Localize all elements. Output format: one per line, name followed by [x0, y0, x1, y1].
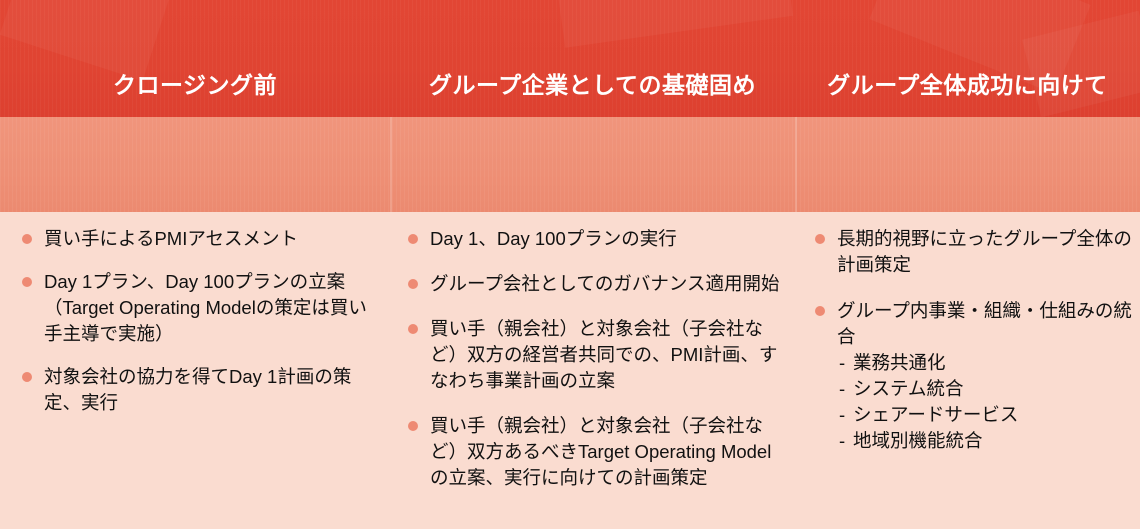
bullet-text: Day 1プラン、Day 100プランの立案（Target Operating … — [44, 271, 367, 344]
dash-marker: - — [839, 402, 853, 428]
phase-title-3: グループ全体成功に向けて — [795, 66, 1140, 100]
phase-header-column-1: クロージング前 — [0, 0, 390, 117]
bullet-subitem: -シェアードサービス — [837, 402, 1132, 428]
bullet-subitem-text: シェアードサービス — [853, 404, 1018, 425]
bullet-item: 対象会社の協力を得てDay 1計画の策定、実行 — [16, 364, 372, 416]
phase-title-1: クロージング前 — [0, 66, 390, 100]
bullet-text: 対象会社の協力を得てDay 1計画の策定、実行 — [44, 366, 351, 413]
bullet-item: グループ会社としてのガバナンス適用開始 — [402, 271, 783, 297]
bullet-text: グループ会社としてのガバナンス適用開始 — [430, 273, 779, 294]
stage-header-column-1: 買い手による計画立案 — [0, 117, 390, 212]
phase-title-2: グループ企業としての基礎固め — [390, 66, 795, 100]
bullet-text: Day 1、Day 100プランの実行 — [430, 228, 677, 249]
dash-marker: - — [839, 350, 853, 376]
dash-marker: - — [839, 428, 853, 454]
bullet-item: Day 1プラン、Day 100プランの立案（Target Operating … — [16, 269, 372, 347]
stage-header-column-2: 両社経営者によるPMI計画策定 — [390, 117, 795, 212]
bullet-subitem: -システム統合 — [837, 376, 1132, 402]
stage-header-columns: 買い手による計画立案 両社経営者によるPMI計画策定 グループ内シナジー追求 — [0, 117, 1140, 212]
bullet-item: 長期的視野に立ったグループ全体の計画策定 — [809, 226, 1132, 278]
stage-header-band: 買い手による計画立案 両社経営者によるPMI計画策定 グループ内シナジー追求 — [0, 117, 1140, 212]
bullet-subitem-text: 地域別機能統合 — [853, 430, 983, 451]
bullet-subitem: -業務共通化 — [837, 350, 1132, 376]
phase-header-column-2: グループ企業としての基礎固め — [390, 0, 795, 117]
bullet-text: 買い手（親会社）と対象会社（子会社など）双方あるべきTarget Operati… — [430, 415, 771, 488]
content-columns: 買い手によるPMIアセスメントDay 1プラン、Day 100プランの立案（Ta… — [0, 212, 1140, 529]
content-band: 買い手によるPMIアセスメントDay 1プラン、Day 100プランの立案（Ta… — [0, 212, 1140, 529]
content-column-3: 長期的視野に立ったグループ全体の計画策定グループ内事業・組織・仕組みの統合-業務… — [795, 212, 1140, 529]
bullet-list-3: 長期的視野に立ったグループ全体の計画策定グループ内事業・組織・仕組みの統合-業務… — [795, 226, 1140, 454]
phase-header-band: クロージング前 グループ企業としての基礎固め グループ全体成功に向けて — [0, 0, 1140, 117]
bullet-text: 買い手によるPMIアセスメント — [44, 228, 298, 249]
dash-marker: - — [839, 376, 853, 402]
bullet-subitem: -地域別機能統合 — [837, 428, 1132, 454]
phase-header-column-3: グループ全体成功に向けて — [795, 0, 1140, 117]
bullet-subitem-list: -業務共通化-システム統合-シェアードサービス-地域別機能統合 — [837, 350, 1132, 454]
bullet-subitem-text: システム統合 — [853, 378, 963, 399]
bullet-item: 買い手によるPMIアセスメント — [16, 226, 372, 252]
bullet-text: 長期的視野に立ったグループ全体の計画策定 — [837, 228, 1132, 275]
bullet-item: 買い手（親会社）と対象会社（子会社など）双方あるべきTarget Operati… — [402, 413, 783, 491]
bullet-item: グループ内事業・組織・仕組みの統合-業務共通化-システム統合-シェアードサービス… — [809, 298, 1132, 454]
bullet-text: グループ内事業・組織・仕組みの統合 — [837, 300, 1132, 347]
content-column-2: Day 1、Day 100プランの実行グループ会社としてのガバナンス適用開始買い… — [390, 212, 795, 529]
stage-header-column-3: グループ内シナジー追求 — [795, 117, 1140, 212]
bullet-list-2: Day 1、Day 100プランの実行グループ会社としてのガバナンス適用開始買い… — [390, 226, 795, 491]
content-column-1: 買い手によるPMIアセスメントDay 1プラン、Day 100プランの立案（Ta… — [0, 212, 390, 529]
bullet-list-1: 買い手によるPMIアセスメントDay 1プラン、Day 100プランの立案（Ta… — [0, 226, 390, 416]
phase-header-columns: クロージング前 グループ企業としての基礎固め グループ全体成功に向けて — [0, 0, 1140, 117]
bullet-item: 買い手（親会社）と対象会社（子会社など）双方の経営者共同での、PMI計画、すなわ… — [402, 316, 783, 394]
bullet-text: 買い手（親会社）と対象会社（子会社など）双方の経営者共同での、PMI計画、すなわ… — [430, 318, 777, 391]
bullet-item: Day 1、Day 100プランの実行 — [402, 226, 783, 252]
bullet-subitem-text: 業務共通化 — [853, 352, 946, 373]
slide-root: クロージング前 グループ企業としての基礎固め グループ全体成功に向けて 買い手に… — [0, 0, 1140, 529]
